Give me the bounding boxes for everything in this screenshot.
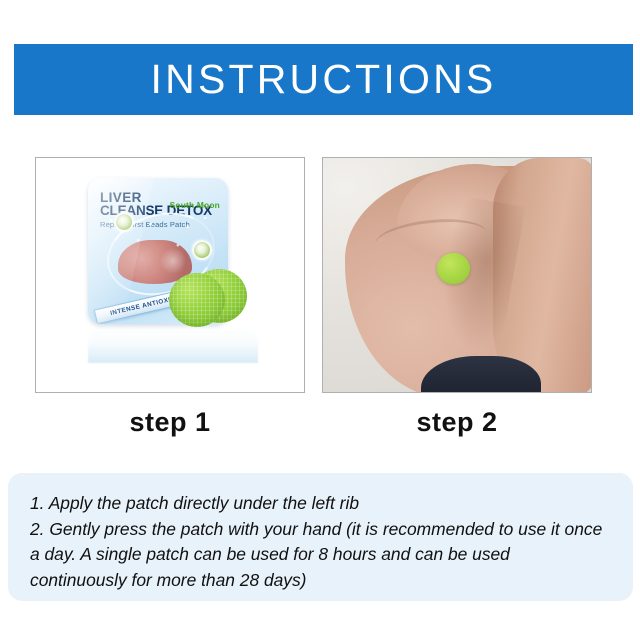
bead-capsule-icon-2 [192,240,212,260]
steps-row: LIVER CLEANSE DETOX Repair Burst Beads P… [0,157,640,447]
instruction-line-4: continuously for more than 28 days) [30,568,611,594]
step-1-panel: LIVER CLEANSE DETOX Repair Burst Beads P… [35,157,305,438]
product-package-photo: LIVER CLEANSE DETOX Repair Burst Beads P… [35,157,305,393]
instruction-note-box: 1. Apply the patch directly under the le… [8,473,633,601]
bubbles-icon [96,208,220,270]
step-2-panel: step 2 [322,157,592,438]
torso-scene [323,158,591,392]
package-title-line1: LIVER [100,190,142,205]
bead-capsule-icon-1 [114,212,134,232]
instruction-line-1: 1. Apply the patch directly under the le… [30,491,611,517]
page-title: INSTRUCTIONS [151,59,497,100]
instruction-line-3: a day. A single patch can be used for 8 … [30,542,611,568]
applied-patch-icon [437,253,470,284]
package-scene: LIVER CLEANSE DETOX Repair Burst Beads P… [36,158,304,392]
step-2-caption: step 2 [322,407,592,438]
step-1-caption: step 1 [35,407,305,438]
instructions-header-bar: INSTRUCTIONS [14,44,633,115]
patch-on-body-photo [322,157,592,393]
package-reflection [88,325,258,363]
instruction-line-2: 2. Gently press the patch with your hand… [30,517,611,543]
green-patch-disc-front [169,273,225,327]
